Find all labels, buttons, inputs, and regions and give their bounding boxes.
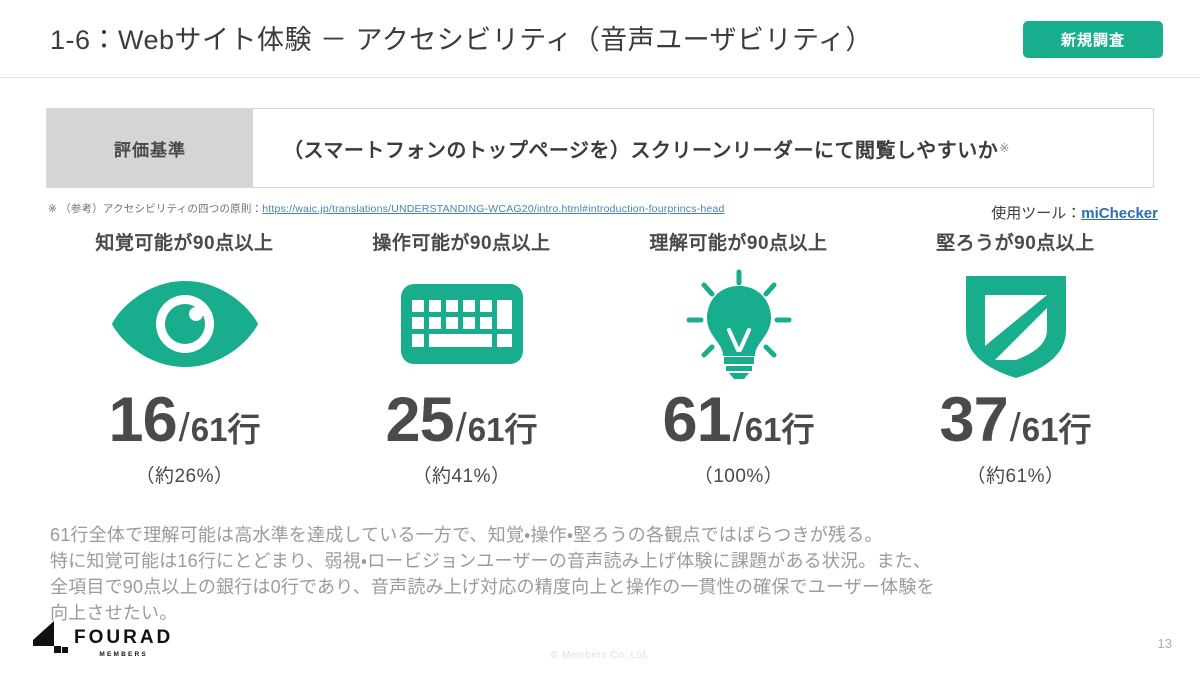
eye-icon xyxy=(110,263,260,385)
fourad-logo-text: FOURAD MEMBERS xyxy=(74,628,173,658)
metric-value: 16 xyxy=(109,389,177,452)
page-title: 1-6：Webサイト体験 － アクセシビリティ（音声ユーザビリティ） xyxy=(50,18,873,57)
metric-separator: / xyxy=(456,408,467,448)
footnote-link[interactable]: https://waic.jp/translations/UNDERSTANDI… xyxy=(262,203,724,215)
metric-number: 61 / 61行 xyxy=(663,389,815,452)
metric-value: 25 xyxy=(386,389,454,452)
footnote: ※ （参考）アクセシビリティの四つの原則：https://waic.jp/tra… xyxy=(48,201,725,216)
metrics-row: 知覚可能が90点以上 16 / 61行 （約26%） 操作可能が90点以上 xyxy=(46,228,1154,488)
metric-percent: （約26%） xyxy=(135,461,233,488)
lightbulb-icon xyxy=(683,263,795,385)
shield-icon xyxy=(964,263,1068,385)
tool-link-michecker[interactable]: miChecker xyxy=(1081,205,1158,222)
metric-value: 37 xyxy=(940,389,1008,452)
metric-total: 61行 xyxy=(191,413,261,446)
fourad-logo-mark xyxy=(32,620,70,659)
summary-text: 61行全体で理解可能は高水準を達成している一方で、知覚・操作・堅ろうの各観点では… xyxy=(50,522,1170,626)
fourad-logo: FOURAD MEMBERS xyxy=(32,620,173,659)
slide-header: 1-6：Webサイト体験 － アクセシビリティ（音声ユーザビリティ） 新規調査 xyxy=(0,0,1200,78)
metric-total: 61行 xyxy=(1022,413,1092,446)
page-number: 13 xyxy=(1158,636,1172,651)
metric-title: 理解可能が90点以上 xyxy=(649,228,827,255)
metric-title: 知覚可能が90点以上 xyxy=(95,228,273,255)
criteria-box: 評価基準 （スマートフォンのトップページを）スクリーンリーダーにて閲覧しやすいか… xyxy=(46,108,1154,188)
metric-title: 操作可能が90点以上 xyxy=(372,228,550,255)
summary-line-2: 特に知覚可能は16行にとどまり、弱視・ロービジョンユーザーの音声読み上げ体験に課… xyxy=(50,548,1170,574)
metric-number: 16 / 61行 xyxy=(109,389,261,452)
metric-perceivable: 知覚可能が90点以上 16 / 61行 （約26%） xyxy=(46,228,323,488)
metric-percent: （約41%） xyxy=(412,461,510,488)
metric-robust: 堅ろうが90点以上 37 / 61行 （約61%） xyxy=(877,228,1154,488)
criteria-value-wrapper: （スマートフォンのトップページを）スクリーンリーダーにて閲覧しやすいか※ xyxy=(253,109,1153,187)
criteria-value: （スマートフォンのトップページを）スクリーンリーダーにて閲覧しやすいか xyxy=(283,134,998,163)
metric-separator: / xyxy=(1010,408,1021,448)
metric-understandable: 理解可能が90点以上 xyxy=(600,228,877,488)
criteria-footnote-mark: ※ xyxy=(999,141,1010,155)
metric-number: 25 / 61行 xyxy=(386,389,538,452)
criteria-label: 評価基準 xyxy=(47,109,253,187)
metric-percent: （100%） xyxy=(694,461,784,488)
copyright: © Members Co.,Ltd. xyxy=(551,650,650,661)
summary-line-1: 61行全体で理解可能は高水準を達成している一方で、知覚・操作・堅ろうの各観点では… xyxy=(50,522,1170,548)
metric-total: 61行 xyxy=(468,413,538,446)
metric-percent: （約61%） xyxy=(966,461,1064,488)
metric-number: 37 / 61行 xyxy=(940,389,1092,452)
logo-subtitle: MEMBERS xyxy=(99,651,148,658)
metric-separator: / xyxy=(733,408,744,448)
metric-separator: / xyxy=(179,408,190,448)
tool-used: 使用ツール：miChecker xyxy=(991,202,1158,223)
summary-line-4: 向上させたい。 xyxy=(50,600,1170,626)
metric-total: 61行 xyxy=(745,413,815,446)
metric-operable: 操作可能が90点以上 xyxy=(323,228,600,488)
logo-name: FOURAD xyxy=(74,628,173,647)
status-badge: 新規調査 xyxy=(1023,21,1163,58)
keyboard-icon xyxy=(400,263,524,385)
summary-line-3: 全項目で90点以上の銀行は0行であり、音声読み上げ対応の精度向上と操作の一貫性の… xyxy=(50,574,1170,600)
metric-value: 61 xyxy=(663,389,731,452)
metric-title: 堅ろうが90点以上 xyxy=(936,228,1095,255)
footnote-prefix: ※ （参考）アクセシビリティの四つの原則： xyxy=(48,203,262,215)
tool-used-label: 使用ツール： xyxy=(991,205,1081,222)
slide: 1-6：Webサイト体験 － アクセシビリティ（音声ユーザビリティ） 新規調査 … xyxy=(0,0,1200,675)
